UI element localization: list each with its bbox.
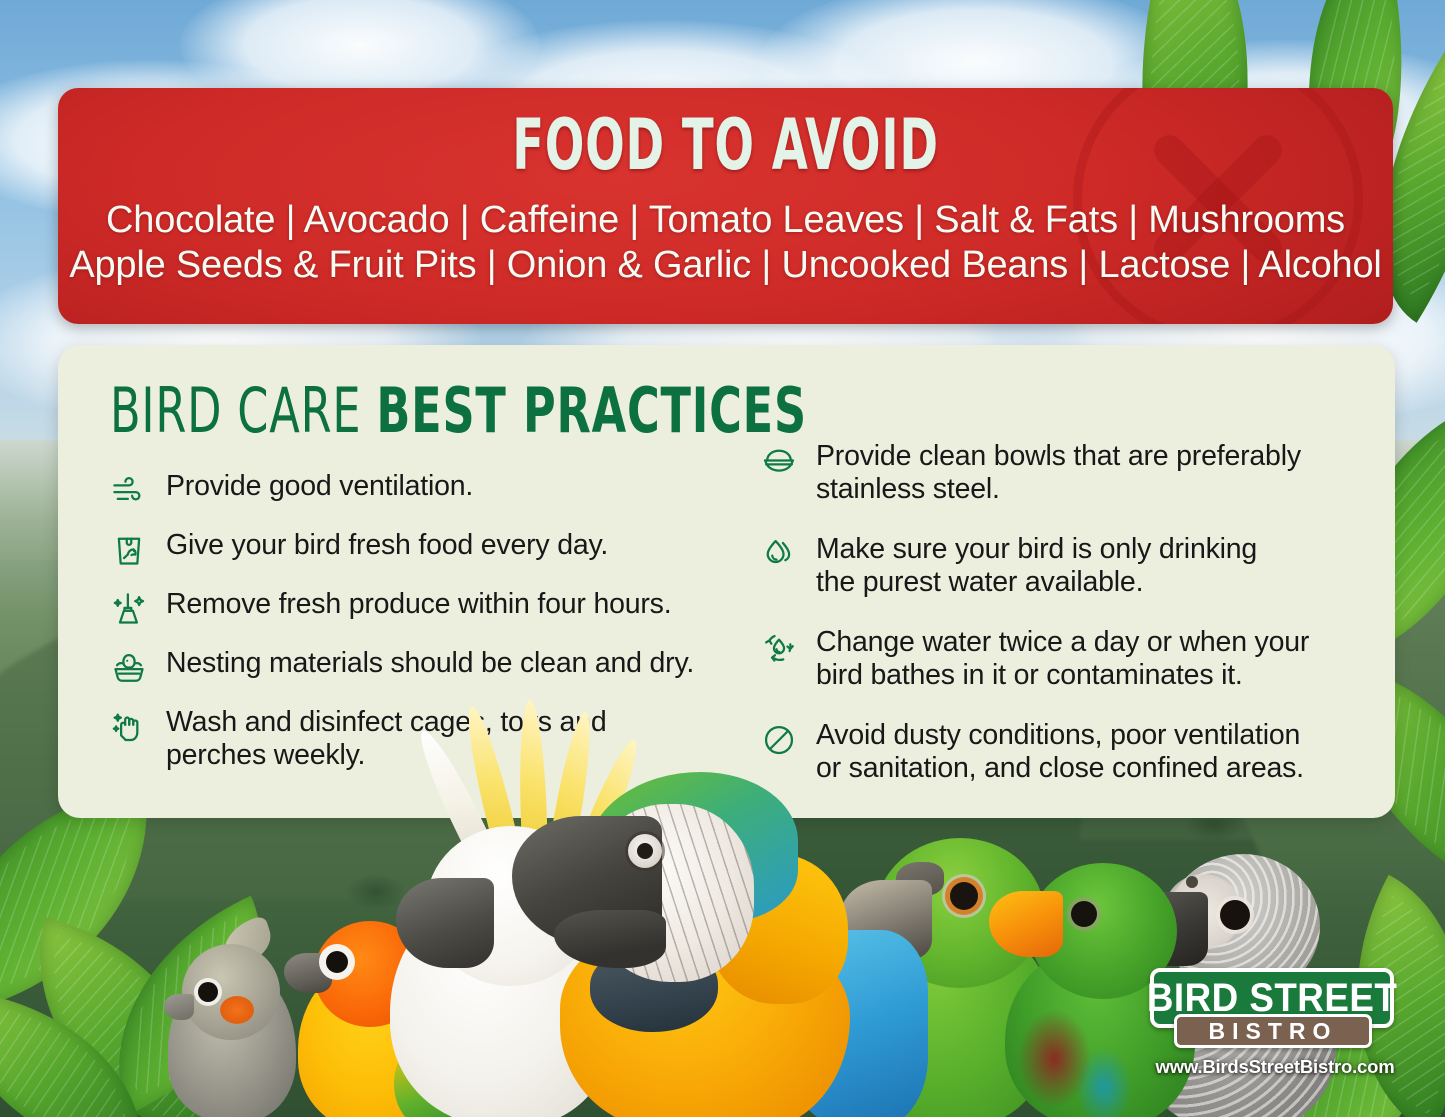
list-item: Make sure your bird is only drinking the…: [760, 533, 1360, 599]
nest-basket-icon: [110, 649, 148, 687]
blue-and-gold-macaw: [520, 770, 920, 1117]
list-item-text: Provide good ventilation.: [166, 470, 473, 503]
list-item-text: Remove fresh produce within four hours.: [166, 588, 671, 621]
care-tips-right-column: Provide clean bowls that are preferably …: [760, 440, 1360, 812]
infographic-poster: FOOD TO AVOID Chocolate | Avocado | Caff…: [0, 0, 1445, 1117]
avoid-food-line: Apple Seeds & Fruit Pits | Onion & Garli…: [58, 243, 1393, 288]
list-item-text: Change water twice a day or when your bi…: [816, 626, 1309, 692]
bird-care-card: BIRD CARE BEST PRACTICES Provide good ve…: [58, 345, 1395, 818]
care-heading-light: BIRD CARE: [110, 374, 361, 447]
list-item: Remove fresh produce within four hours.: [110, 588, 730, 628]
water-recycle-icon: [760, 628, 798, 666]
avoid-food-line: Chocolate | Avocado | Caffeine | Tomato …: [58, 198, 1393, 243]
list-item: Nesting materials should be clean and dr…: [110, 647, 730, 687]
water-drop-icon: [760, 535, 798, 573]
list-item-text: Provide clean bowls that are preferably …: [816, 440, 1301, 506]
list-item-text: Nesting materials should be clean and dr…: [166, 647, 694, 680]
avoid-food-list: Chocolate | Avocado | Caffeine | Tomato …: [58, 198, 1393, 288]
food-bowl-icon: [760, 442, 798, 480]
logo-website-url[interactable]: www.BirdsStreetBistro.com: [1150, 1056, 1400, 1078]
washing-hand-icon: [110, 708, 148, 746]
list-item: Provide good ventilation.: [110, 470, 730, 510]
bird-street-bistro-logo[interactable]: BIRD STREET BISTRO www.BirdsStreetBistro…: [1150, 968, 1400, 1083]
list-item: Change water twice a day or when your bi…: [760, 626, 1360, 692]
care-tips-left-column: Provide good ventilation. Give your bird…: [110, 470, 730, 791]
logo-bistro-text: BISTRO: [1209, 1018, 1338, 1045]
list-item-text: Give your bird fresh food every day.: [166, 529, 608, 562]
banner-title: FOOD TO AVOID: [232, 110, 1220, 180]
cleaning-brush-icon: [110, 590, 148, 628]
food-to-avoid-banner: FOOD TO AVOID Chocolate | Avocado | Caff…: [58, 88, 1393, 324]
bird-food-bag-icon: [110, 531, 148, 569]
list-item: Give your bird fresh food every day.: [110, 529, 730, 569]
list-item: Provide clean bowls that are preferably …: [760, 440, 1360, 506]
wind-ventilation-icon: [110, 472, 148, 510]
care-heading-bold: BEST PRACTICES: [376, 374, 807, 447]
list-item-text: Make sure your bird is only drinking the…: [816, 533, 1257, 599]
care-heading: BIRD CARE BEST PRACTICES: [110, 380, 807, 442]
logo-bistro-bar: BISTRO: [1174, 1014, 1372, 1048]
prohibition-icon: [760, 721, 798, 759]
